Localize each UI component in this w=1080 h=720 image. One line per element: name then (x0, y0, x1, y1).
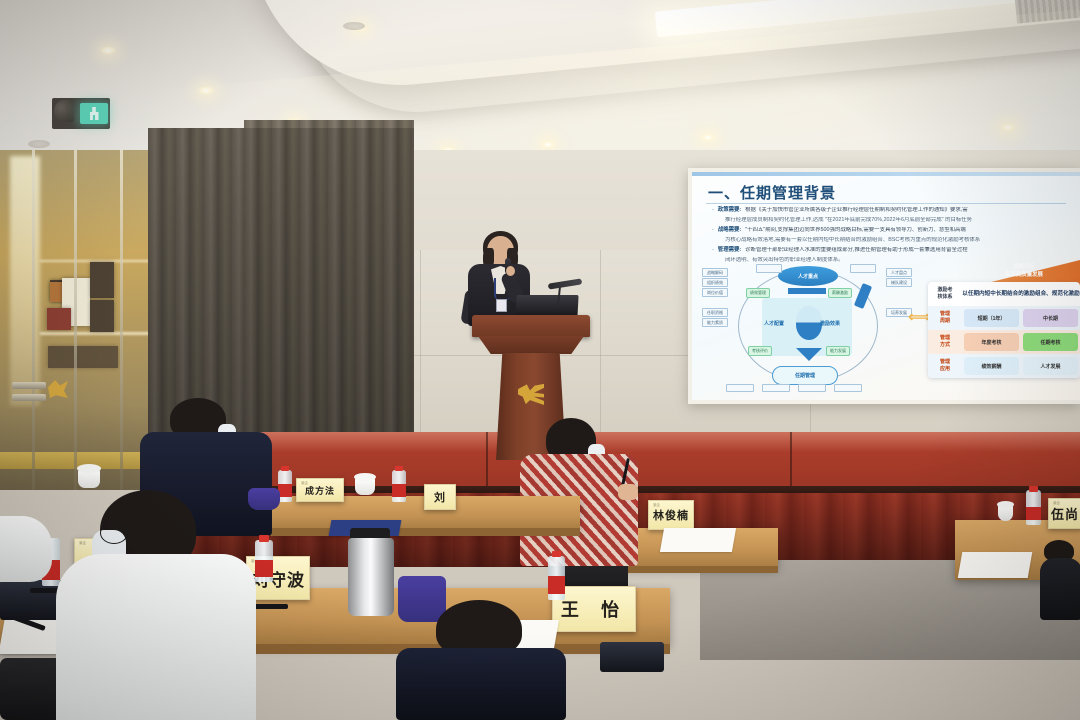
table-cell: 绩效薪酬 (964, 357, 1019, 375)
diagram-side-box (756, 264, 782, 273)
slide-title-rule (706, 203, 1066, 204)
bullet-dash: - (712, 247, 714, 255)
display-poster (47, 308, 71, 330)
slide-title: 一、任期管理背景 (708, 182, 836, 203)
table-header-title: 以任期内短中长期结合的激励组合、规范化激励 (962, 290, 1080, 298)
slide-banner-text: 战略目标 实现高质量发展 (968, 263, 1080, 279)
diagram-chip: 薪酬激励 (828, 288, 852, 298)
badge-icon (496, 299, 507, 312)
slide-bullet-list: - 政策需要: 根据《关于加快市管企业所属各级子企业推行经理层任期制和契约化管理… (712, 207, 1074, 267)
bottle-cap (281, 466, 289, 471)
diagram-side-box (798, 384, 826, 392)
slide-diagram: 人才重点 人才配置 激励效果 任期管理 绩效管理 薪酬激励 考核评价 能力发展 … (700, 262, 915, 394)
notepad (958, 552, 1033, 578)
tea-cup-lid (77, 464, 101, 473)
podium-bevel (478, 336, 584, 354)
door-handle-icon[interactable] (12, 382, 46, 389)
placard-logo-text: 渝企 (1053, 501, 1060, 506)
slide-bullet: - 政策需要: 根据《关于加快市管企业所属各级子企业推行经理层任期制和契约化管理… (712, 207, 1074, 215)
diagram-side-box: 人才盘点 (886, 268, 912, 277)
diagram-right-label: 激励效果 (820, 320, 840, 327)
bullet-label: 政策需要: (718, 207, 741, 215)
diagram-chip: 绩效管理 (746, 288, 770, 298)
door-mullion (32, 150, 35, 490)
speaker-hand (506, 266, 515, 276)
tea-cup-lid (997, 501, 1014, 508)
thermos-flask (348, 538, 394, 616)
bullet-subtext: 为核心战略有效落地,需要有一套以任期内短中长期结合的激励组合、BSC考核为重点的… (725, 237, 1074, 245)
table-row-label: 管理应用 (928, 359, 962, 373)
slide-bullet: - 管理需要: 诊断管理干部职业经理人水准的重要组成部分,推进任期管理有助于形成… (712, 247, 1074, 255)
podium-top (472, 315, 590, 337)
downlight-icon (100, 46, 116, 55)
tea-cup-lid (354, 473, 376, 481)
cabinet-light-icon (10, 156, 40, 406)
bullet-subtext: 推行经理层成员制和契约化管理工作,达成 "在2021年底前完成70%,2022年… (725, 217, 1074, 225)
attendee-foreground-white (56, 490, 256, 720)
diagram-side-box: 梯队建设 (886, 278, 912, 287)
banner-line-1: 战略目标 (968, 263, 1080, 271)
diagram-bottom-node: 任期管理 (772, 366, 838, 385)
exit-sign-icon (80, 103, 108, 124)
table-row: 管理周期 短期（1年） 中长期 (928, 306, 1080, 330)
bullet-text: 根据《关于加快市管企业所属各级子企业推行经理层任期制和契约化管理工作的通知》要求… (745, 207, 968, 215)
diagram-down-arrow-icon (796, 348, 822, 361)
placard-liu-partial: 刘 (424, 484, 456, 510)
diagram-side-box (726, 384, 754, 392)
notepad (660, 528, 736, 552)
bullet-dash: - (712, 207, 714, 215)
bottle-label (255, 560, 273, 577)
display-poster (90, 300, 114, 332)
stage-seam (790, 432, 792, 488)
table-row: 管理方式 年度考核 任期考核 (928, 330, 1080, 354)
downlight-icon (540, 140, 556, 149)
display-shelf (40, 332, 150, 335)
bullet-dash: - (712, 227, 714, 235)
attendee-torso (396, 648, 566, 720)
bullet-text: "十四五"期间,支撑集团迈向世界500强的战略目标,需要一支具有领导力、创新力、… (745, 227, 966, 235)
bullet-label: 管理需要: (718, 247, 741, 255)
table-header-row: 激励考核体系 以任期内短中长期结合的激励组合、规范化激励 (928, 282, 1080, 306)
bottle-label (278, 484, 292, 497)
attendee-hand (618, 484, 638, 500)
bullet-text: 诊断管理干部职业经理人水准的重要组成部分,推进任期管理有助于形成一套兼选用育留全… (745, 247, 968, 255)
company-logo-icon (48, 380, 68, 398)
attendee-right (1042, 540, 1080, 620)
attendee-sleeve (0, 516, 52, 582)
diagram-side-box: 能力素质 (702, 318, 728, 327)
smoke-detector-icon (343, 22, 365, 30)
banner-line-2: 实现高质量发展 (968, 271, 1080, 279)
table-cell: 任期考核 (1023, 333, 1078, 351)
projection-screen: 一、任期管理背景 - 政策需要: 根据《关于加快市管企业所属各级子企业推行经理层… (692, 172, 1080, 400)
downlight-icon (198, 86, 214, 95)
door-mullion (120, 150, 123, 490)
running-man-glyph (90, 107, 99, 120)
tablet-device[interactable] (600, 642, 664, 672)
diagram-side-box (834, 384, 862, 392)
ceiling-speaker-icon (54, 100, 74, 122)
smoke-detector-icon (28, 140, 50, 148)
table-edge (250, 528, 580, 536)
table-cell: 年度考核 (964, 333, 1019, 351)
table-row-label: 管理周期 (928, 311, 962, 325)
placard-name: 刘 (434, 489, 446, 505)
diagram-left-label: 人才配置 (764, 320, 784, 327)
bottle-label (548, 576, 565, 594)
placard-wu: 渝企 伍尚 (1048, 498, 1080, 529)
attendee-torso (56, 554, 256, 720)
placard-logo-text: 渝企 (653, 503, 660, 508)
door-handle-icon[interactable] (12, 394, 46, 401)
table-header-label: 激励考核体系 (928, 287, 962, 301)
slide-table: 激励考核体系 以任期内短中长期结合的激励组合、规范化激励 管理周期 短期（1年）… (928, 282, 1080, 378)
table-cell: 中长期 (1023, 309, 1078, 327)
bottle-label (1026, 507, 1041, 520)
bottle-cap (552, 551, 561, 557)
attendee-far-left-arm (0, 516, 62, 582)
diagram-side-box (850, 264, 876, 273)
diagram-bar (788, 288, 826, 294)
door-mullion (74, 150, 77, 490)
placard-name: 成方法 (305, 484, 335, 497)
diagram-chip: 能力发展 (826, 346, 850, 356)
placard-name: 伍尚 (1051, 504, 1079, 523)
table-row: 管理应用 绩效薪酬 人才发展 (928, 354, 1080, 378)
display-cabinet-base (48, 346, 118, 368)
downlight-icon (700, 133, 716, 142)
double-arrow-icon: ⟺ (908, 312, 930, 326)
diagram-side-box: 组织绩效 (702, 278, 728, 287)
wall-seam (600, 250, 601, 440)
display-poster (90, 262, 114, 298)
eyeglasses-icon (100, 522, 128, 544)
bullet-label: 战略需要: (718, 227, 741, 235)
placard-name: 王 怡 (561, 596, 627, 622)
attendee-front-center (396, 600, 566, 720)
diagram-top-node: 人才重点 (778, 266, 838, 286)
diagram-core-shape (796, 306, 822, 340)
diagram-side-box: 战略解码 (702, 268, 728, 277)
bottle-label (392, 484, 406, 497)
attendee-torso (1040, 558, 1080, 620)
diagram-chip: 考核评价 (748, 346, 772, 356)
placard-cheng: 渝企 成方法 (296, 478, 344, 502)
bottle-cap (395, 466, 403, 471)
table-cell: 人才发展 (1023, 357, 1078, 375)
conference-room-photo: 一、任期管理背景 - 政策需要: 根据《关于加快市管企业所属各级子企业推行经理层… (0, 0, 1080, 720)
bottle-cap (259, 535, 269, 542)
slide-top-accent (692, 172, 1080, 176)
table-cell: 短期（1年） (964, 309, 1019, 327)
placard-lin: 渝企 林俊楠 (648, 500, 694, 530)
table-row-label: 管理方式 (928, 335, 962, 349)
diagram-side-box (762, 384, 790, 392)
placard-name: 林俊楠 (653, 507, 689, 523)
placard-logo-text: 渝企 (301, 481, 308, 486)
downlight-icon (1000, 123, 1016, 132)
glass-door-display-area[interactable] (0, 150, 152, 490)
bottle-cap (1029, 486, 1038, 492)
slide-bullet: - 战略需要: "十四五"期间,支撑集团迈向世界500强的战略目标,需要一支具有… (712, 227, 1074, 235)
diagram-side-box: 任职资格 (702, 308, 728, 317)
wall-seam (420, 250, 421, 440)
diagram-side-box: 岗位价值 (702, 288, 728, 297)
